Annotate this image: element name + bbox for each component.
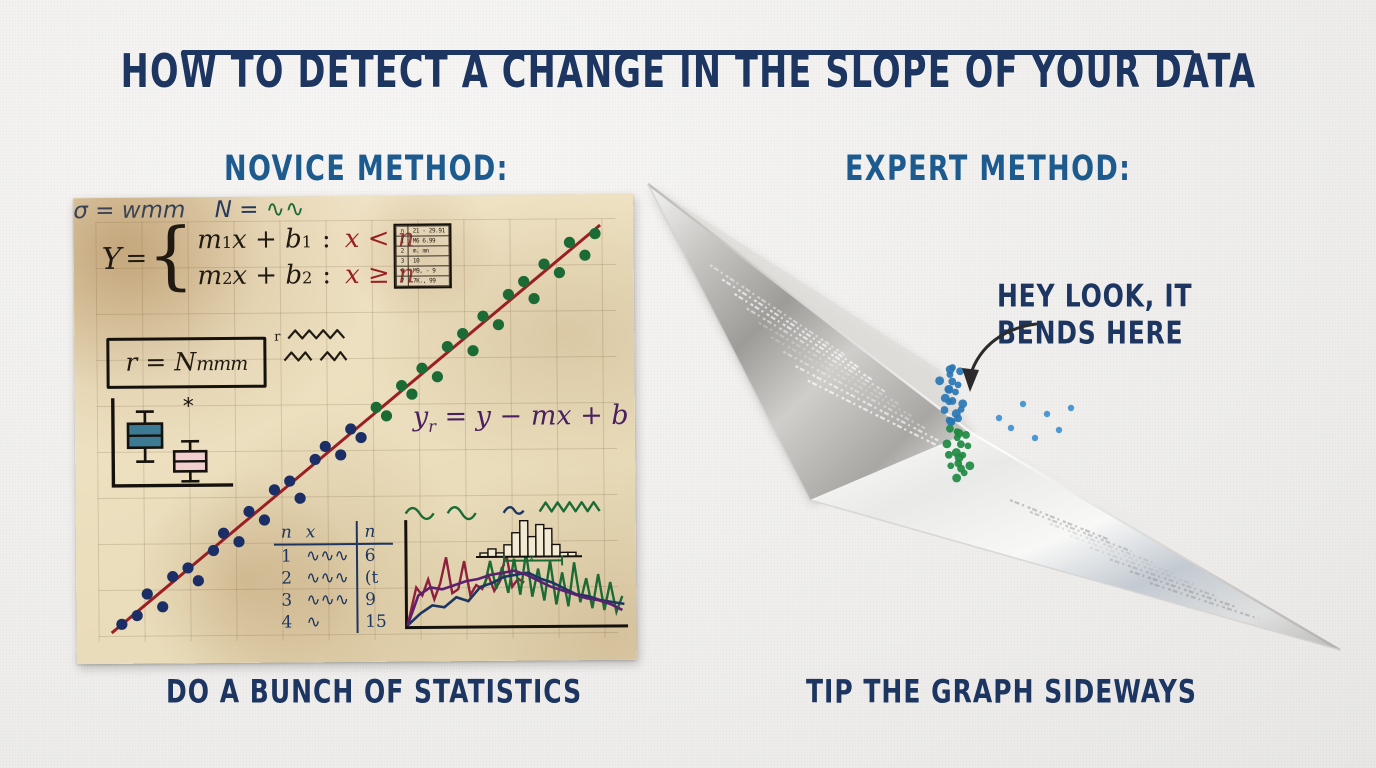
scatter-point <box>208 545 219 556</box>
piecewise-row2-sub2: 2 <box>302 268 312 287</box>
novice-heading: NOVICE METHOD: <box>224 149 509 189</box>
mini-table-cell: M6 6.99 <box>408 236 449 246</box>
tipped-data-point <box>962 431 970 439</box>
data-table-cell: 2 <box>274 567 299 589</box>
mini-table-row: 1M6 6.99 <box>396 236 449 246</box>
piecewise-formula: Y = { m1x + b1 : x < n m2x + b2 : x ≥ n <box>101 224 414 292</box>
scatter-point <box>132 610 143 621</box>
graph-paper-sheet: Y = { m1x + b1 : x < n m2x + b2 : x ≥ n … <box>73 194 637 664</box>
data-table-cell: 3 <box>274 589 299 611</box>
mini-table-row: n21 - 29.91 <box>396 226 449 236</box>
tipped-data-point <box>1032 435 1038 441</box>
mini-table-cell: 21 - 29.91 <box>408 226 449 236</box>
data-table-header: x <box>299 521 357 544</box>
scatter-point <box>193 575 204 586</box>
scatter-point <box>269 484 280 495</box>
tipped-data-point <box>961 469 968 476</box>
data-table-cell: 9 <box>357 589 394 611</box>
scatter-point <box>310 454 321 465</box>
mini-stats-table: n21 - 29.911M6 6.992m. mn3106M9, - 977K.… <box>393 223 452 288</box>
residual-rhs: = y − mx + b <box>436 400 629 433</box>
table-row: 1∿∿∿6 <box>274 544 394 568</box>
annotation-line-1: HEY LOOK, IT <box>997 278 1192 315</box>
histogram-bar <box>504 545 512 557</box>
scatter-point <box>157 601 168 612</box>
scatter-point <box>564 237 575 248</box>
data-table-cell: ∿∿∿ <box>299 589 357 611</box>
scatter-point <box>416 363 427 374</box>
mini-table-cell: M9, - 9 <box>408 266 449 276</box>
piecewise-row1-sub2: 1 <box>302 232 312 251</box>
tipped-data-point <box>996 415 1002 421</box>
mini-table-cell: 7K., 99 <box>409 276 450 286</box>
tipped-data-point <box>965 461 974 470</box>
scatter-point <box>243 506 254 517</box>
tipped-graph-illustration <box>640 170 1360 670</box>
scatter-point <box>259 514 270 525</box>
mini-table-cell: n <box>396 226 408 236</box>
tipped-data-point <box>1068 405 1074 411</box>
piecewise-row-1: m1x + b1 : x < n <box>197 224 415 256</box>
mini-table-row: 2m. mn <box>396 246 449 256</box>
data-table-cell: ∿∿∿ <box>299 567 357 589</box>
scatter-point <box>294 493 305 504</box>
mini-table-cell: m. mn <box>408 246 449 256</box>
data-table-cell: ∿∿∿ <box>299 544 357 567</box>
tipped-data-point <box>1044 411 1050 417</box>
squiggle-note: r <box>274 324 394 377</box>
expert-caption: TIP THE GRAPH SIDEWAYS <box>806 673 1197 710</box>
novice-caption: DO A BUNCH OF STATISTICS <box>166 673 582 710</box>
scatter-point <box>142 588 153 599</box>
boxplot-chart: * <box>105 393 238 498</box>
tipped-data-point <box>959 452 966 459</box>
title-underline <box>181 50 1194 55</box>
tipped-data-point <box>945 451 953 459</box>
piecewise-row2-m: m <box>197 261 222 291</box>
histogram-bar <box>520 521 528 557</box>
tipped-data-point <box>946 417 953 424</box>
scatter-point <box>406 389 417 400</box>
data-table-header: n <box>356 521 393 544</box>
scatter-point <box>528 293 539 304</box>
scatter-point <box>182 562 193 573</box>
tipped-data-point <box>947 462 954 469</box>
tipped-data-point <box>1008 425 1014 431</box>
mini-line-chart: x <box>398 516 631 638</box>
histogram-bar <box>488 549 496 557</box>
piecewise-lhs: Y <box>102 241 122 276</box>
piecewise-row1-rest: x + b <box>232 224 302 255</box>
scatter-point <box>116 619 127 630</box>
data-table-cell: (t <box>357 567 394 589</box>
scatter-point <box>371 402 382 413</box>
piecewise-row2-rest: x + b <box>232 260 302 291</box>
boxed-formula: r = Nmmm <box>106 337 266 389</box>
residual-formula: yr = y − mx + b <box>413 400 629 436</box>
scatter-point <box>589 228 600 239</box>
piecewise-row1-m: m <box>197 225 222 255</box>
table-row: 4∿15 <box>274 611 393 634</box>
boxed-formula-squiggle: mmm <box>196 353 247 375</box>
mini-table-row: 6M9, - 9 <box>396 266 449 276</box>
data-table-cell: 6 <box>357 544 394 567</box>
tipped-data-point <box>1056 427 1062 433</box>
annotation-arrow <box>940 318 1050 408</box>
boxed-formula-text: r = N <box>125 347 196 377</box>
scatter-point <box>335 449 346 460</box>
mini-table-cell: 7 <box>396 276 408 286</box>
table-row: 2∿∿∿(t <box>274 567 393 590</box>
data-table-cell: 4 <box>274 611 299 633</box>
residual-sub: r <box>428 417 436 436</box>
piecewise-row1-sub1: 1 <box>222 233 232 252</box>
histogram-bar <box>552 544 560 556</box>
histogram-bar <box>512 533 520 557</box>
scatter-point <box>518 276 529 287</box>
svg-text:x: x <box>529 554 535 564</box>
mini-table-row: 77K., 99 <box>396 276 449 286</box>
scatter-point <box>432 371 443 382</box>
scatter-point <box>355 432 366 443</box>
scatter-point <box>218 528 229 539</box>
scatter-point <box>457 328 468 339</box>
scatter-point <box>503 289 514 300</box>
scatter-point <box>284 475 295 486</box>
svg-text:r: r <box>274 330 281 345</box>
scatter-point <box>167 571 178 582</box>
data-table-cell: 1 <box>274 544 299 567</box>
histogram-bar <box>544 528 552 556</box>
piecewise-brace: { <box>147 228 195 283</box>
histogram-bar <box>536 525 544 557</box>
mini-table-cell: 3 <box>396 256 408 266</box>
piecewise-row2-sub1: 2 <box>222 269 232 288</box>
mini-table-cell: 1 <box>396 236 408 246</box>
mini-table-row: 310 <box>396 256 449 266</box>
scatter-point <box>579 250 590 261</box>
tipped-data-point <box>954 434 961 441</box>
tipped-data-point <box>954 428 961 435</box>
significance-asterisk: * <box>183 394 194 419</box>
tipped-data-point <box>965 442 972 449</box>
residual-lhs: y <box>413 401 429 432</box>
scatter-point <box>233 536 244 547</box>
mini-table-cell: 6 <box>396 266 408 276</box>
data-table-header: n <box>274 521 299 544</box>
piecewise-row2-colon: : <box>322 260 331 290</box>
scatter-point <box>396 380 407 391</box>
data-table: nxn 1∿∿∿62∿∿∿(t3∿∿∿94∿15 <box>274 521 394 634</box>
data-table-cell: 15 <box>357 611 394 633</box>
data-table-cell: ∿ <box>299 611 357 633</box>
scatter-point <box>467 345 478 356</box>
piecewise-row-2: m2x + b2 : x ≥ n <box>197 260 415 292</box>
scatter-point <box>381 410 392 421</box>
mini-table-cell: 10 <box>408 256 449 266</box>
tipped-data-point <box>957 440 965 448</box>
scatter-point <box>554 267 565 278</box>
mini-table-cell: 2 <box>396 246 408 256</box>
tipped-data-point <box>952 474 961 483</box>
scatter-point <box>477 311 488 322</box>
table-row: 3∿∿∿9 <box>274 589 393 612</box>
scatter-point <box>493 319 504 330</box>
tipped-data-point <box>943 439 952 448</box>
scatter-point <box>442 341 453 352</box>
tipped-data-point <box>946 425 954 433</box>
piecewise-row1-colon: : <box>322 224 331 254</box>
scatter-point <box>320 441 331 452</box>
scatter-point <box>538 258 549 269</box>
piecewise-equals: = <box>125 244 147 274</box>
scatter-point <box>345 423 356 434</box>
